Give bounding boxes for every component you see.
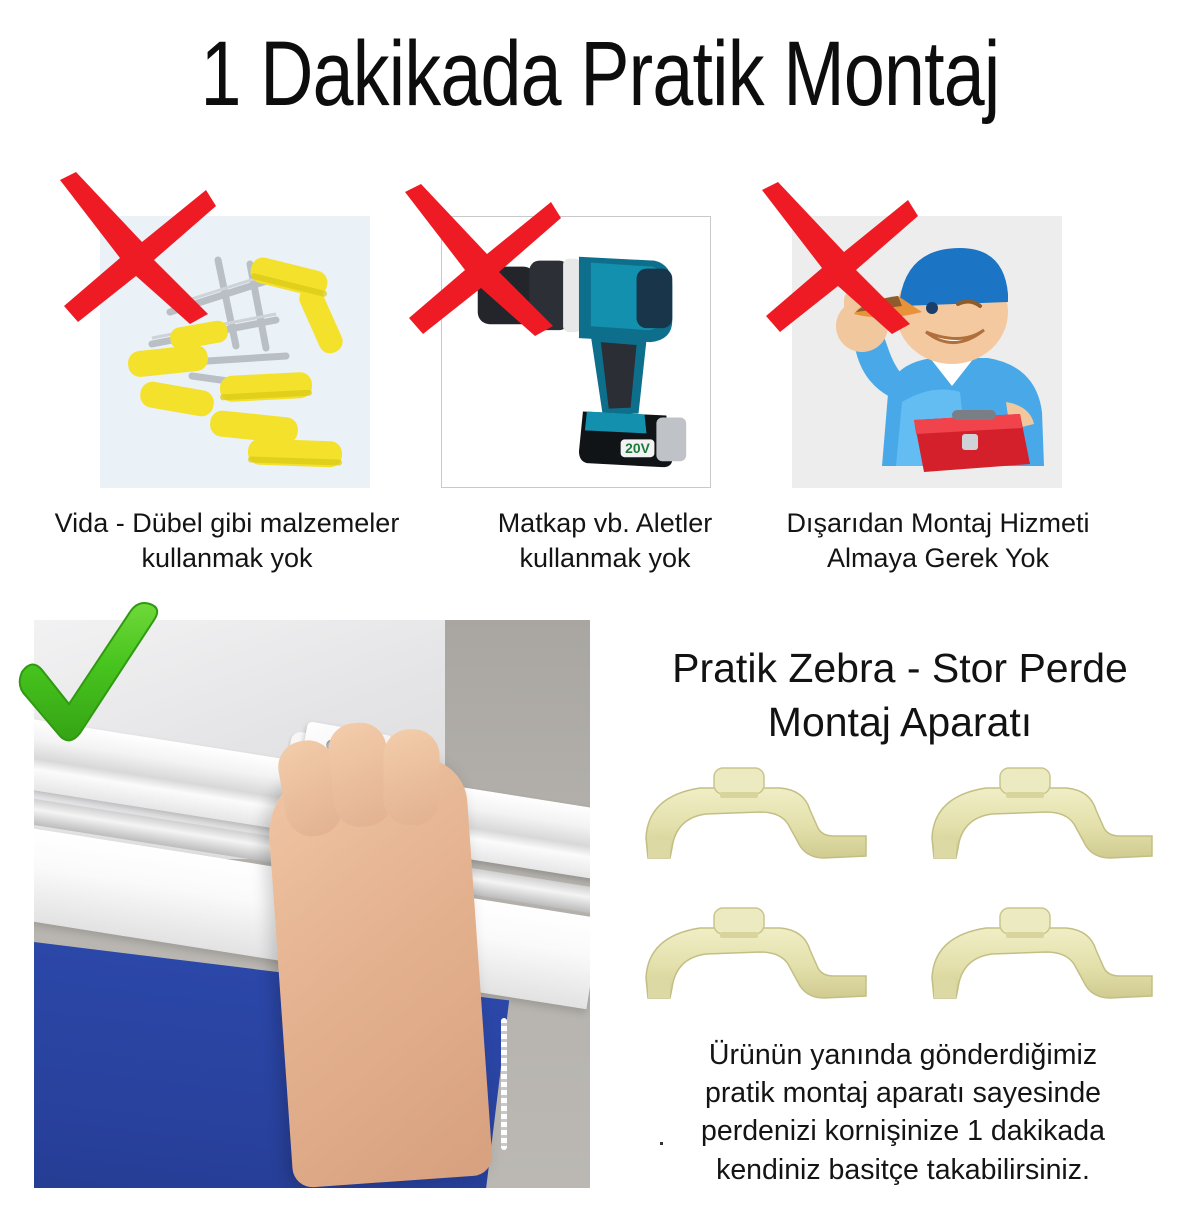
no-item-card-handyman	[792, 216, 1062, 488]
promo-infographic: 1 Dakikada Pratik Montaj	[0, 0, 1200, 1215]
handyman-illustration	[792, 216, 1062, 488]
description-line: pratik montaj aparatı sayesinde	[648, 1074, 1158, 1112]
no-needed-items-row: 20V	[0, 216, 1200, 506]
hand-mounting-bracket-on-curtain-rail-photo	[34, 620, 590, 1188]
caption-line: kullanmak yok	[12, 541, 442, 576]
montaj-aparati-clip	[914, 762, 1162, 874]
caption-line: Almaya Gerek Yok	[768, 541, 1108, 576]
product-heading-line: Montaj Aparatı	[608, 695, 1192, 749]
handyman-with-toolbox-illustration	[792, 216, 1062, 488]
montaj-aparati-clip	[628, 902, 876, 1014]
screws-illustration	[100, 216, 370, 488]
hand	[264, 756, 493, 1188]
page-title: 1 Dakikada Pratik Montaj	[120, 26, 1080, 123]
product-heading: Pratik Zebra - Stor Perde Montaj Aparatı	[608, 641, 1192, 749]
description-line: kendiniz basitçe takabilirsiniz.	[648, 1151, 1158, 1189]
caption-line: Dışarıdan Montaj Hizmeti	[768, 506, 1108, 541]
no-item-card-screws	[100, 216, 370, 488]
description-line: perdenizi kornişinize 1 dakikada	[648, 1112, 1158, 1150]
caption-drill: Matkap vb. Aletler kullanmak yok	[440, 506, 770, 576]
montaj-aparati-clip	[914, 902, 1162, 1014]
drill-illustration: 20V	[442, 217, 710, 487]
caption-handyman: Dışarıdan Montaj Hizmeti Almaya Gerek Yo…	[768, 506, 1108, 576]
bead-chain	[501, 1018, 507, 1150]
caption-line: Matkap vb. Aletler	[440, 506, 770, 541]
stray-dot	[660, 1142, 663, 1145]
description-line: Ürünün yanında gönderdiğimiz	[648, 1036, 1158, 1074]
caption-screws: Vida - Dübel gibi malzemeler kullanmak y…	[12, 506, 442, 576]
clip-illustration	[914, 902, 1162, 1014]
mounting-clips-grid	[620, 762, 1180, 1012]
montaj-aparati-clip	[628, 762, 876, 874]
product-description: Ürünün yanında gönderdiğimiz pratik mont…	[648, 1036, 1158, 1189]
clip-illustration	[914, 762, 1162, 874]
finger	[383, 729, 439, 825]
clip-illustration	[628, 902, 876, 1014]
cordless-drill-photo: 20V	[441, 216, 711, 488]
caption-line: Vida - Dübel gibi malzemeler	[12, 506, 442, 541]
clip-illustration	[628, 762, 876, 874]
product-heading-line: Pratik Zebra - Stor Perde	[608, 641, 1192, 695]
svg-text:20V: 20V	[625, 440, 650, 456]
screws-and-wall-plugs-photo	[100, 216, 370, 488]
caption-line: kullanmak yok	[440, 541, 770, 576]
no-item-card-drill: 20V	[441, 216, 711, 488]
